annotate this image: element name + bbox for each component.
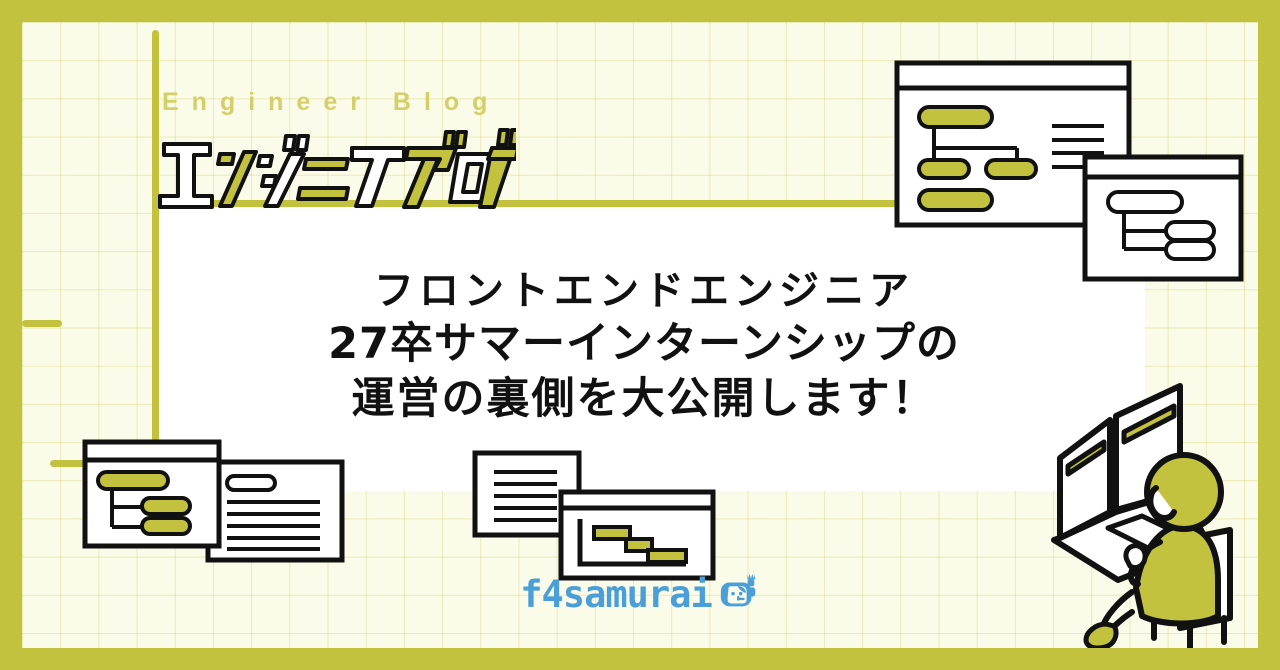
illustration-tree-window-top-right [1082, 154, 1244, 282]
illustration-gantt-chart-window [558, 489, 716, 581]
connector-stub-left-upper [22, 320, 62, 327]
banner-canvas: Engineer Blog [22, 22, 1258, 648]
logotype-engineer-blog-jp [156, 126, 516, 216]
engineer-blog-banner: Engineer Blog [0, 0, 1280, 670]
illustration-document-window-bottom-left [205, 459, 345, 563]
samurai-head-icon [718, 571, 760, 618]
banner-title: フロントエンドエンジニア 27卒サマーインターンシップの 運営の裏側を大公開しま… [174, 228, 1114, 464]
eyebrow-engineer-blog: Engineer Blog [162, 88, 500, 117]
title-line-1: フロントエンドエンジニア [374, 268, 914, 315]
title-line-2: 27卒サマーインターンシップの [328, 319, 960, 370]
illustration-flowchart-window-bottom-left [82, 439, 222, 549]
brand-wordmark: f4samurai [520, 573, 711, 616]
title-line-3: 運営の裏側を大公開します！ [352, 374, 937, 425]
footer-brand-logo: f4samurai [22, 571, 1258, 618]
